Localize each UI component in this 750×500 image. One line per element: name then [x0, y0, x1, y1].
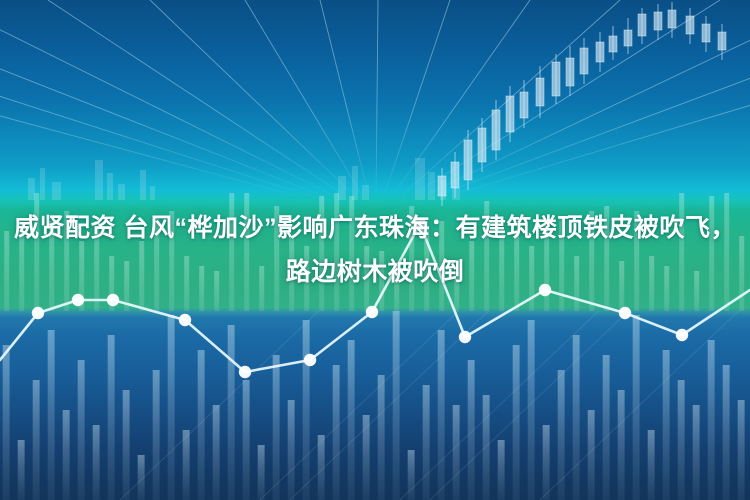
line-marker — [72, 294, 84, 306]
line-marker — [239, 366, 251, 378]
line-marker — [304, 354, 316, 366]
line-marker — [366, 306, 378, 318]
line-marker — [179, 314, 191, 326]
headline-text: 威贤配资 台风“桦加沙”影响广东珠海：有建筑楼顶铁皮被吹飞，路边树木被吹倒 — [0, 206, 750, 294]
line-marker — [676, 329, 688, 341]
line-marker — [32, 307, 44, 319]
news-banner: 威贤配资 台风“桦加沙”影响广东珠海：有建筑楼顶铁皮被吹飞，路边树木被吹倒 — [0, 0, 750, 500]
line-marker — [459, 331, 471, 343]
line-marker — [107, 294, 119, 306]
line-marker — [619, 307, 631, 319]
